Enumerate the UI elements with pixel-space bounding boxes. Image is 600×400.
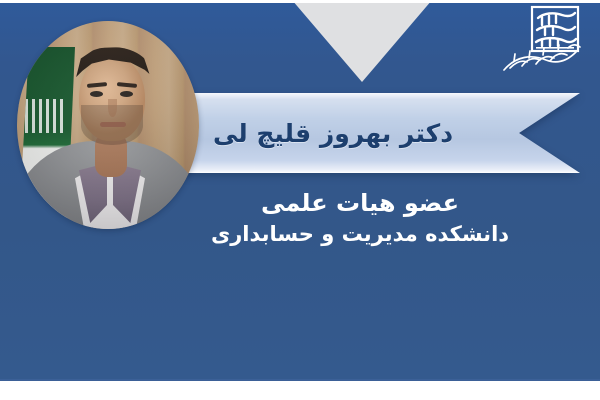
- footer-whitespace: [0, 381, 600, 400]
- top-divider: [0, 0, 600, 3]
- shahid-beheshti-university-logo-icon: دانشگاه شهید بهشتی روابط عمومی و امور بی…: [498, 4, 586, 84]
- portrait-photo: [17, 21, 199, 229]
- name-ribbon-banner: دکتر بهروز قلیچ لی: [132, 93, 580, 173]
- subtitle-line-role: عضو هیات علمی: [180, 188, 540, 219]
- chevron-down-notch-icon: [292, 0, 432, 82]
- subtitle-line-faculty: دانشکده مدیریت و حسابداری: [180, 221, 540, 249]
- avatar: دکتر بهروز قلیچ لی: [17, 21, 199, 229]
- person-name: دکتر بهروز قلیچ لی: [132, 93, 580, 173]
- portrait-vignette: [17, 21, 199, 229]
- notch-inner-shape: [295, 0, 430, 79]
- subtitle-block: عضو هیات علمی دانشکده مدیریت و حسابداری: [180, 188, 540, 248]
- profile-card: دانشگاه شهید بهشتی روابط عمومی و امور بی…: [0, 0, 600, 400]
